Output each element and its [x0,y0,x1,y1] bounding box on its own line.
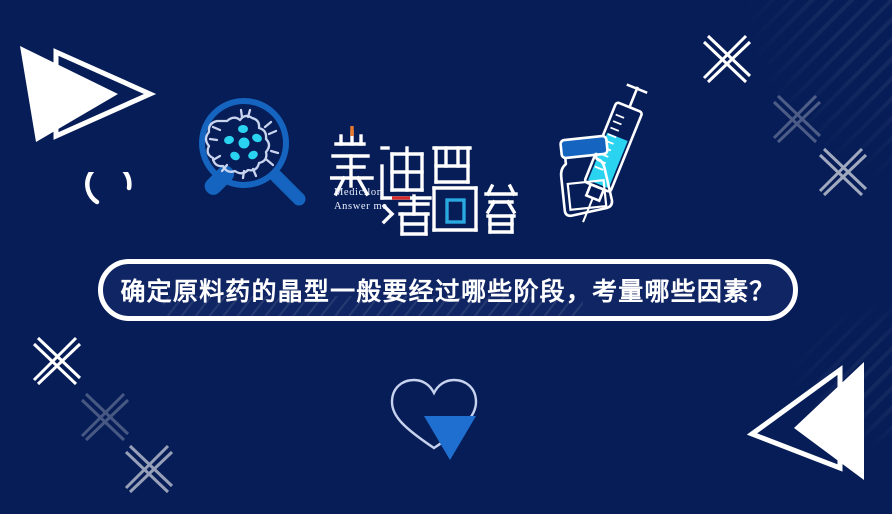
diagonal-stripes-middle-right [792,300,892,450]
medicine-vial-icon [559,136,613,217]
logo-inner-square [447,200,464,222]
x-cross-icon-3 [816,145,870,199]
brand-logo: Medicilon Answer me [330,118,520,236]
double-play-triangle-icon [8,34,158,154]
x-cross-icon-6 [122,442,176,496]
x-cross-icon-1 [700,32,754,86]
check-triangle-icon [424,416,476,460]
question-text: 确定原料药的晶型一般要经过哪些阶段，考量哪些因素？ [120,272,775,308]
poster-canvas: Medicilon Answer me [0,0,892,514]
x-cross-icon-4 [30,334,84,388]
syringe-vial-group [548,78,673,223]
logo-brand-en: Medicilon [334,186,388,200]
syringe-icon [570,82,651,223]
arc-circle-icon [82,172,142,232]
logo-english-text: Medicilon Answer me [334,186,388,214]
diagonal-stripes-top-right [742,0,892,190]
question-banner: 确定原料药的晶型一般要经过哪些阶段，考量哪些因素？ [98,259,798,321]
heart-check-group [382,372,487,460]
double-play-triangle-left-icon [742,356,892,514]
magnifier-virus-icon [186,88,310,206]
x-cross-icon-2 [770,92,824,146]
heart-outline-icon [392,380,476,448]
logo-glyphs [330,118,520,236]
logo-tagline-en: Answer me [334,200,388,214]
x-cross-icon-5 [78,390,132,444]
